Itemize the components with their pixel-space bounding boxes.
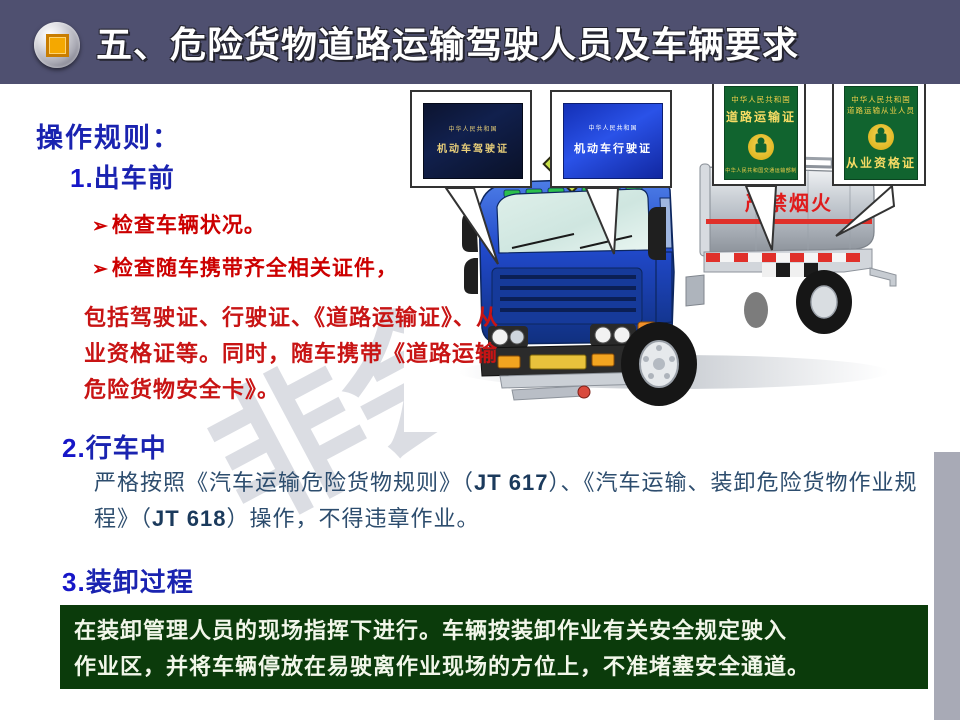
callout-tail-vehicle-license [584,186,644,256]
highlight-line-2: 作业区，并将车辆停放在易驶离作业现场的方位上，不准堵塞安全通道。 [74,649,914,685]
callout-tail-road-transport-permit [744,184,804,254]
item-1-number: 1. [70,163,94,193]
callout-vehicle-license: 中华人民共和国 机动车行驶证 [550,90,672,188]
section-label: 操作规则： [36,116,181,155]
para-part-3: ）操作，不得违章作业。 [227,506,480,531]
slide-root: 非会员 [0,0,960,720]
license-issuer: 中华人民共和国 [588,126,637,133]
standard-code-1: JT 617 [474,470,549,495]
item-2-number: 2. [62,433,86,463]
right-edge-bar [934,452,960,720]
certificate-issuer: 中华人民共和国 [731,95,791,104]
bullet-arrow-icon: ➢ [92,259,109,280]
certificate-footer: 中华人民共和国交通运输部制 [725,167,797,174]
item-1-bullet-2: ➢检查随车携带齐全相关证件， [92,252,398,282]
item-1-title: 出车前 [94,164,175,193]
standard-code-2: JT 618 [152,506,227,531]
item-3-number: 3. [62,567,86,597]
item-1-heading: 1.出车前 [70,158,175,195]
certificate-title: 道路运输证 [726,108,796,125]
license-issuer: 中华人民共和国 [448,127,497,134]
callout-practitioner-qualification: 中华人民共和国 道路运输从业人员 从业资格证 [832,76,926,186]
certificate-subtitle: 道路运输从业人员 [847,106,915,115]
national-emblem-icon [868,124,894,150]
orange-square-bullet-icon [34,22,80,68]
license-title: 机动车行驶证 [574,140,652,156]
para-part-1: 严格按照《汽车运输危险货物规则》（ [94,470,474,495]
highlight-box: 在装卸管理人员的现场指挥下进行。车辆按装卸作业有关安全规定驶入 作业区，并将车辆… [60,605,928,689]
item-1-bullet-1: ➢检查车辆状况。 [92,209,266,239]
item-2-paragraph: 严格按照《汽车运输危险货物规则》（JT 617）、《汽车运输、装卸危险货物作业规… [94,465,934,537]
callout-tail-practitioner-qualification [834,184,904,254]
highlight-line-1: 在装卸管理人员的现场指挥下进行。车辆按装卸作业有关安全规定驶入 [74,613,914,649]
certificate-issuer: 中华人民共和国 [851,95,911,104]
item-3-title: 装卸过程 [86,568,194,597]
license-title: 机动车驾驶证 [437,140,509,155]
callout-driver-license: 中华人民共和国 机动车驾驶证 [410,90,532,188]
item-1-paragraph: 包括驾驶证、行驶证、《道路运输证》、从业资格证等。同时，随车携带《道路运输危险货… [84,300,514,408]
certificate-title: 从业资格证 [846,154,916,171]
bullet-arrow-icon: ➢ [92,216,109,237]
page-title: 五、危险货物道路运输驾驶人员及车辆要求 [96,16,799,68]
callout-road-transport-permit: 中华人民共和国 道路运输证 中华人民共和国交通运输部制 [712,76,806,186]
callout-tail-driver-license [444,186,524,266]
item-2-title: 行车中 [86,434,167,463]
national-emblem-icon [748,134,774,160]
item-3-heading: 3.装卸过程 [62,562,194,599]
item-2-heading: 2.行车中 [62,428,167,465]
